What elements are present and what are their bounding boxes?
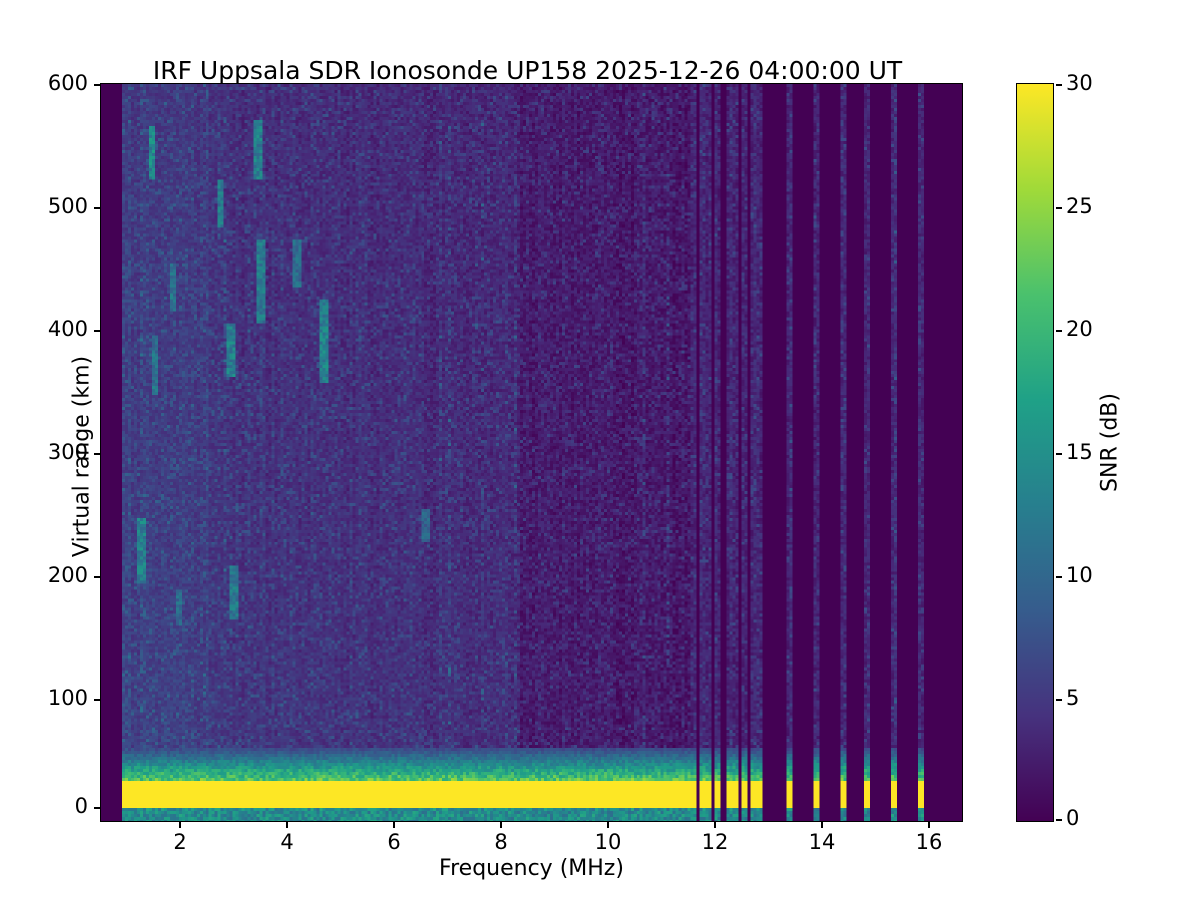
colorbar-tick-mark [1056,84,1062,85]
colorbar-tick-mark [1056,819,1062,820]
colorbar-tick-label: 20 [1066,317,1093,341]
colorbar [1016,83,1054,822]
x-tick-mark [928,822,929,828]
x-axis-label: Frequency (MHz) [100,856,963,881]
colorbar-tick-mark [1056,699,1062,700]
y-tick-label: 500 [26,194,88,218]
colorbar-tick-label: 0 [1066,806,1079,830]
colorbar-tick-label: 5 [1066,686,1079,710]
y-tick-mark [94,576,100,577]
colorbar-tick-mark [1056,330,1062,331]
colorbar-tick-label: 30 [1066,71,1093,95]
y-tick-label: 0 [26,794,88,818]
ionogram-heatmap [101,84,962,821]
colorbar-label: SNR (dB) [1098,293,1123,593]
y-axis-label: Virtual range (km) [70,257,95,657]
x-tick-mark [286,822,287,828]
x-tick-label: 10 [578,830,638,854]
y-tick-mark [94,84,100,85]
ionogram-figure: IRF Uppsala SDR Ionosonde UP158 2025-12-… [0,0,1200,900]
x-tick-label: 12 [685,830,745,854]
x-tick-mark [714,822,715,828]
y-tick-mark [94,453,100,454]
y-tick-mark [94,330,100,331]
y-tick-mark [94,207,100,208]
x-tick-mark [179,822,180,828]
colorbar-gradient [1017,84,1053,821]
x-tick-mark [821,822,822,828]
colorbar-tick-label: 15 [1066,440,1093,464]
x-tick-label: 4 [257,830,317,854]
y-tick-mark [94,807,100,808]
x-tick-label: 8 [471,830,531,854]
ionogram-plot-area[interactable] [100,83,963,822]
x-tick-mark [500,822,501,828]
colorbar-tick-label: 10 [1066,563,1093,587]
x-tick-label: 6 [364,830,424,854]
y-tick-label: 600 [26,71,88,95]
colorbar-tick-label: 25 [1066,194,1093,218]
x-tick-label: 16 [899,830,959,854]
y-tick-mark [94,699,100,700]
x-tick-label: 2 [150,830,210,854]
colorbar-tick-mark [1056,453,1062,454]
y-tick-label: 100 [26,686,88,710]
x-tick-mark [607,822,608,828]
colorbar-tick-mark [1056,207,1062,208]
x-tick-label: 14 [792,830,852,854]
x-tick-mark [393,822,394,828]
colorbar-tick-mark [1056,576,1062,577]
